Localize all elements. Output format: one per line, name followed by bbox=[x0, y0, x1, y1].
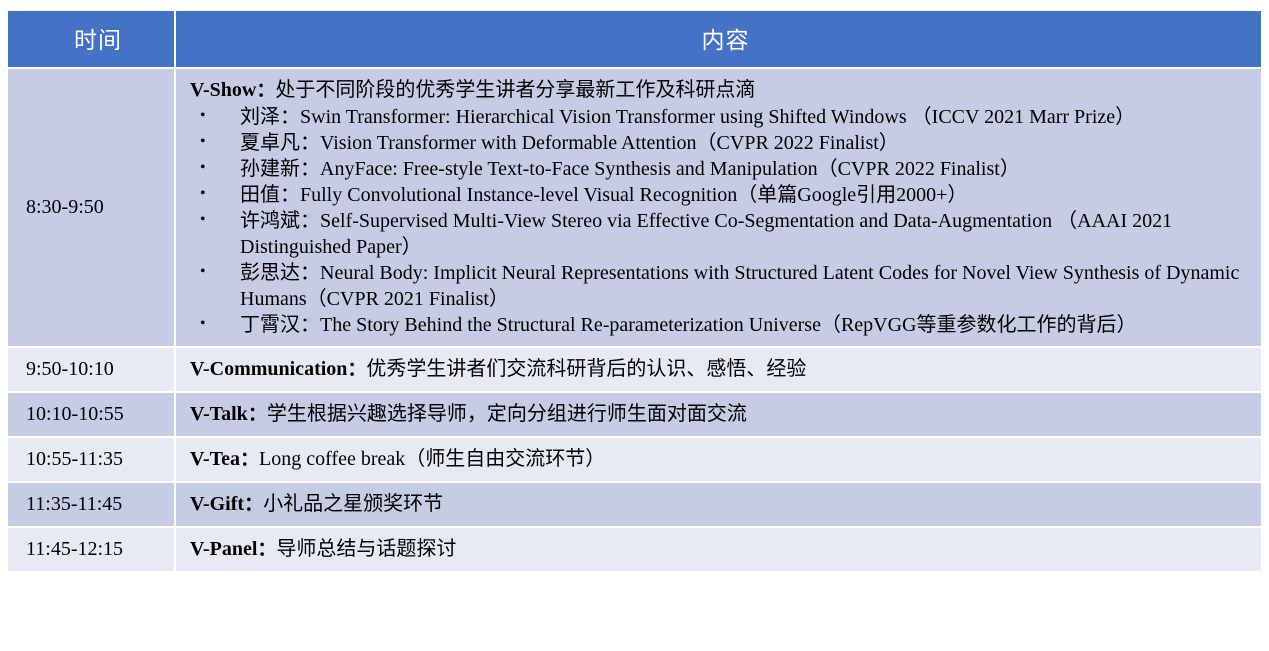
column-header-content: 内容 bbox=[176, 11, 1261, 67]
row-content: V-Panel：导师总结与话题探讨 bbox=[176, 528, 1261, 571]
session-separator: ： bbox=[257, 538, 276, 560]
row-content: V-Communication：优秀学生讲者们交流科研背后的认识、感悟、经验 bbox=[176, 348, 1261, 391]
schedule-table: 时间 内容 8:30-9:50V-Show：处于不同阶段的优秀学生讲者分享最新工… bbox=[8, 9, 1261, 573]
session-title: V-Talk：学生根据兴趣选择导师，定向分组进行师生面对面交流 bbox=[190, 401, 1253, 427]
session-title: V-Panel：导师总结与话题探讨 bbox=[190, 536, 1253, 562]
list-item: 许鸿斌：Self-Supervised Multi-View Stereo vi… bbox=[190, 208, 1253, 260]
column-header-time: 时间 bbox=[8, 11, 176, 67]
header-row: 时间 内容 bbox=[8, 11, 1261, 67]
list-item: 田值：Fully Convolutional Instance-level Vi… bbox=[190, 182, 1253, 208]
session-name: V-Talk bbox=[190, 403, 248, 425]
session-title: V-Show：处于不同阶段的优秀学生讲者分享最新工作及科研点滴 bbox=[190, 77, 1253, 103]
table-header: 时间 内容 bbox=[8, 11, 1261, 67]
table-row: 10:55-11:35 V-Tea：Long coffee break（师生自由… bbox=[8, 438, 1261, 481]
list-item: 孙建新：AnyFace: Free-style Text-to-Face Syn… bbox=[190, 156, 1253, 182]
row-time: 11:35-11:45 bbox=[8, 483, 176, 526]
session-summary: 处于不同阶段的优秀学生讲者分享最新工作及科研点滴 bbox=[275, 79, 755, 101]
session-separator: ： bbox=[248, 403, 267, 425]
session-summary: 优秀学生讲者们交流科研背后的认识、感悟、经验 bbox=[366, 358, 806, 380]
session-summary: 学生根据兴趣选择导师，定向分组进行师生面对面交流 bbox=[267, 403, 747, 425]
session-name: V-Tea bbox=[190, 448, 240, 470]
session-summary: 小礼品之星颁奖环节 bbox=[263, 493, 443, 515]
row-time: 10:10-10:55 bbox=[8, 393, 176, 436]
row-content: V-Talk：学生根据兴趣选择导师，定向分组进行师生面对面交流 bbox=[176, 393, 1261, 436]
table-row: 11:35-11:45V-Gift：小礼品之星颁奖环节 bbox=[8, 483, 1261, 526]
session-summary: 导师总结与话题探讨 bbox=[276, 538, 456, 560]
row-time: 8:30-9:50 bbox=[8, 69, 176, 346]
session-separator: ： bbox=[256, 79, 275, 101]
session-separator: ： bbox=[347, 358, 366, 380]
session-separator: ： bbox=[240, 448, 259, 470]
list-item: 丁霄汉：The Story Behind the Structural Re-p… bbox=[190, 312, 1253, 338]
table-row: 9:50-10:10V-Communication：优秀学生讲者们交流科研背后的… bbox=[8, 348, 1261, 391]
session-name: V-Communication bbox=[190, 358, 347, 380]
row-time: 11:45-12:15 bbox=[8, 528, 176, 571]
table-row: 10:10-10:55V-Talk：学生根据兴趣选择导师，定向分组进行师生面对面… bbox=[8, 393, 1261, 436]
table-row: 8:30-9:50V-Show：处于不同阶段的优秀学生讲者分享最新工作及科研点滴… bbox=[8, 69, 1261, 346]
list-item: 彭思达：Neural Body: Implicit Neural Represe… bbox=[190, 260, 1253, 312]
row-content: V-Show：处于不同阶段的优秀学生讲者分享最新工作及科研点滴刘泽：Swin T… bbox=[176, 69, 1261, 346]
list-item: 刘泽：Swin Transformer: Hierarchical Vision… bbox=[190, 104, 1253, 130]
session-name: V-Show bbox=[190, 79, 256, 101]
row-content: V-Tea：Long coffee break（师生自由交流环节） bbox=[176, 438, 1261, 481]
row-time: 10:55-11:35 bbox=[8, 438, 176, 481]
table-row: 11:45-12:15V-Panel：导师总结与话题探讨 bbox=[8, 528, 1261, 571]
row-content: V-Gift：小礼品之星颁奖环节 bbox=[176, 483, 1261, 526]
session-name: V-Panel bbox=[190, 538, 257, 560]
session-name: V-Gift bbox=[190, 493, 244, 515]
session-title: V-Communication：优秀学生讲者们交流科研背后的认识、感悟、经验 bbox=[190, 356, 1253, 382]
talk-list: 刘泽：Swin Transformer: Hierarchical Vision… bbox=[190, 104, 1253, 338]
table-body: 8:30-9:50V-Show：处于不同阶段的优秀学生讲者分享最新工作及科研点滴… bbox=[8, 69, 1261, 571]
list-item: 夏卓凡：Vision Transformer with Deformable A… bbox=[190, 130, 1253, 156]
session-title: V-Gift：小礼品之星颁奖环节 bbox=[190, 491, 1253, 517]
row-time: 9:50-10:10 bbox=[8, 348, 176, 391]
session-summary: Long coffee break（师生自由交流环节） bbox=[259, 448, 605, 470]
session-title: V-Tea：Long coffee break（师生自由交流环节） bbox=[190, 446, 1253, 472]
session-separator: ： bbox=[244, 493, 263, 515]
